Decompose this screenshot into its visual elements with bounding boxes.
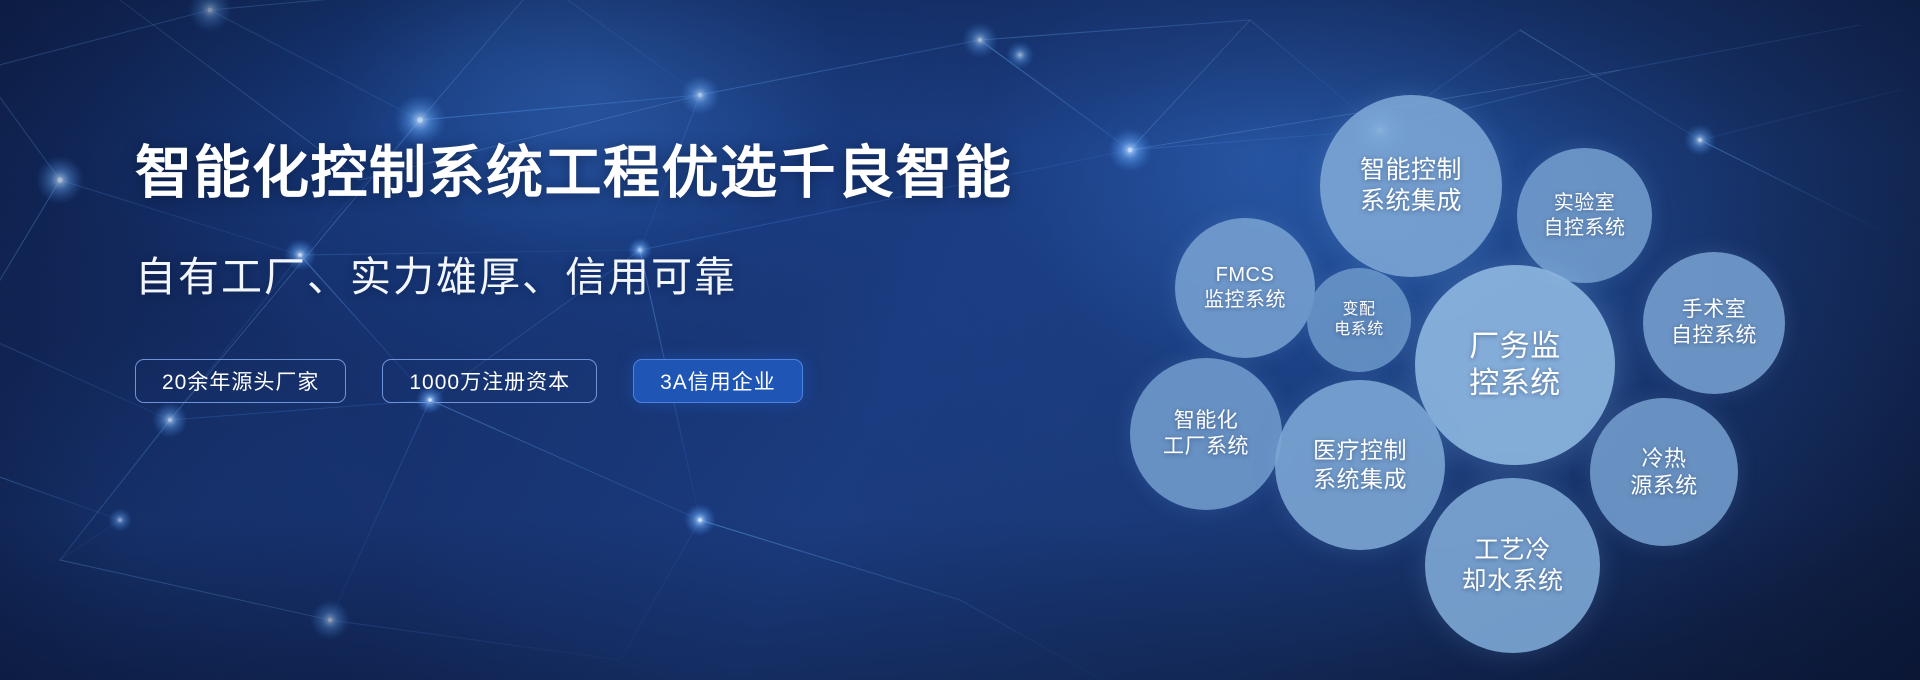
bubble-label-line1: 医疗控制 [1313, 436, 1407, 465]
bubble-label-line1: 冷热 [1630, 445, 1698, 472]
bubble-label-line1: 智能控制 [1360, 155, 1462, 186]
bubble-operating-room-control[interactable]: 手术室 自控系统 [1643, 252, 1785, 394]
bubble-label-line2: 源系统 [1630, 472, 1698, 499]
bubble-label-line1: 实验室 [1544, 191, 1626, 216]
bubble-power-distribution[interactable]: 变配 电系统 [1307, 268, 1411, 372]
bubble-fmcs-monitoring[interactable]: FMCS 监控系统 [1175, 218, 1315, 358]
hero-banner: 智能化控制系统工程优选千良智能 自有工厂、实力雄厚、信用可靠 20余年源头厂家 … [0, 0, 1920, 680]
bubble-label-line2: 自控系统 [1671, 323, 1757, 349]
badge-credit[interactable]: 3A信用企业 [633, 359, 803, 403]
bubble-label-line1: 变配 [1334, 300, 1384, 320]
bubble-intelligent-control-integration[interactable]: 智能控制 系统集成 [1320, 95, 1502, 277]
bubble-label-line2: 系统集成 [1360, 186, 1462, 217]
badge-years[interactable]: 20余年源头厂家 [135, 359, 346, 403]
bubble-smart-factory[interactable]: 智能化 工厂系统 [1130, 358, 1282, 510]
bubble-label-line1: 手术室 [1671, 297, 1757, 323]
bubble-label-line2: 系统集成 [1313, 465, 1407, 494]
bubble-label-line2: 却水系统 [1461, 566, 1563, 597]
bubble-label-line2: 电系统 [1334, 320, 1384, 340]
badge-list: 20余年源头厂家 1000万注册资本 3A信用企业 [135, 359, 1095, 403]
bubble-label-line2: 监控系统 [1204, 288, 1286, 313]
bubble-label-line2: 控系统 [1469, 365, 1561, 402]
bubble-heating-cooling-source[interactable]: 冷热 源系统 [1590, 398, 1738, 546]
bubble-label-line2: 自控系统 [1544, 216, 1626, 241]
bubble-label-line1: FMCS [1204, 263, 1286, 288]
bubble-label-line2: 工厂系统 [1163, 434, 1249, 460]
page-title: 智能化控制系统工程优选千良智能 [135, 140, 1095, 207]
bubble-medical-control-integration[interactable]: 医疗控制 系统集成 [1275, 380, 1445, 550]
bubble-laboratory-control[interactable]: 实验室 自控系统 [1517, 148, 1652, 283]
bubble-label-line1: 工艺冷 [1461, 535, 1563, 566]
bubble-label-line1: 厂务监 [1469, 328, 1561, 365]
banner-content: 智能化控制系统工程优选千良智能 自有工厂、实力雄厚、信用可靠 20余年源头厂家 … [135, 140, 1095, 403]
bubble-plant-monitoring[interactable]: 厂务监 控系统 [1415, 265, 1615, 465]
service-bubble-cluster: 智能控制 系统集成 实验室 自控系统 FMCS 监控系统 变配 电系统 [1135, 40, 1895, 660]
bubble-process-cooling-water[interactable]: 工艺冷 却水系统 [1425, 478, 1600, 653]
badge-capital[interactable]: 1000万注册资本 [382, 359, 597, 403]
bubble-label-line1: 智能化 [1163, 408, 1249, 434]
banner-subtitle: 自有工厂、实力雄厚、信用可靠 [135, 251, 1095, 304]
